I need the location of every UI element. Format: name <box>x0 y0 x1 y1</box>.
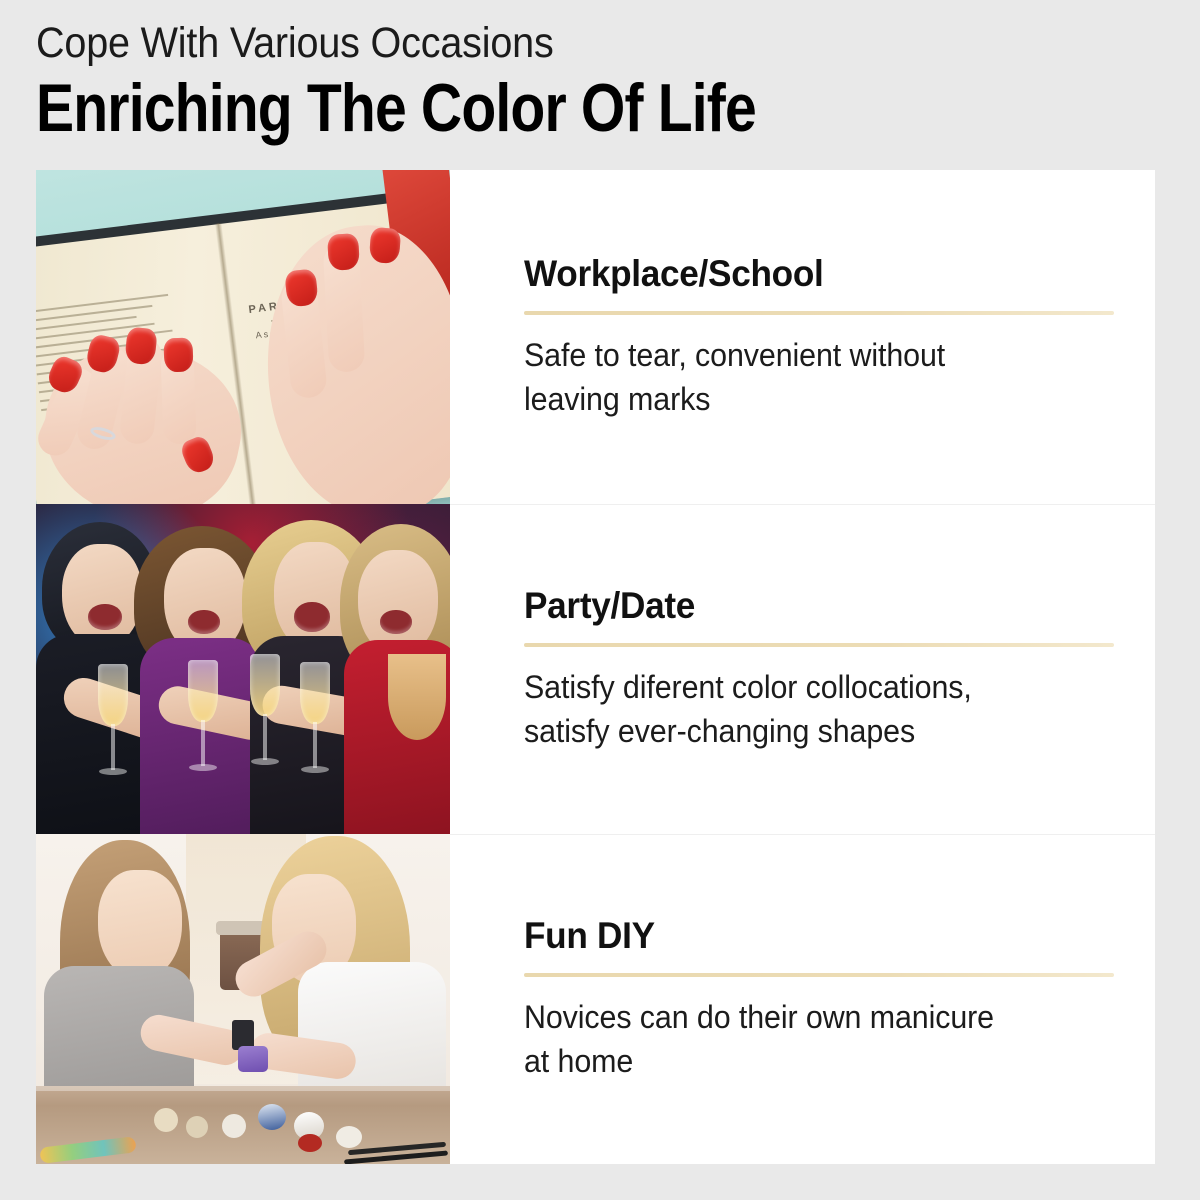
glass-stem <box>201 720 205 766</box>
polish-container <box>238 1046 268 1072</box>
photo-party-champagne <box>36 504 450 834</box>
feature-text-fun-diy: Fun DIY Novices can do their own manicur… <box>450 834 1170 1164</box>
feature-body: Safe to tear, convenient without leaving… <box>524 333 1085 421</box>
champagne-glass <box>98 664 128 726</box>
white-tank-top <box>298 962 446 1098</box>
open-mouth <box>88 604 122 630</box>
gold-divider <box>524 311 1114 315</box>
face <box>62 544 142 648</box>
feature-title: Party/Date <box>524 585 1085 627</box>
red-pot <box>298 1134 322 1152</box>
photo-diy-manicure <box>36 834 450 1164</box>
feature-title: Workplace/School <box>524 253 1085 295</box>
glass-foot <box>301 766 329 773</box>
champagne-glass <box>300 662 330 724</box>
open-mouth <box>380 610 412 634</box>
wooden-table <box>36 1086 450 1164</box>
photo-book-red-nails: PARTIE IIAssociation <box>36 170 450 504</box>
open-mouth <box>188 610 220 634</box>
feature-row-fun-diy: Fun DIY Novices can do their own manicur… <box>36 834 1155 1164</box>
feature-card: PARTIE IIAssociation Work <box>36 170 1155 1164</box>
header: Cope With Various Occasions Enriching Th… <box>36 18 1156 144</box>
feature-title: Fun DIY <box>524 915 1085 957</box>
feature-row-party-date: Party/Date Satisfy diferent color colloc… <box>36 504 1155 834</box>
supply-jar <box>186 1116 208 1138</box>
glass-stem <box>263 714 267 760</box>
blue-pot <box>258 1104 286 1130</box>
glass-foot <box>99 768 127 775</box>
red-nail <box>163 338 193 373</box>
red-nail <box>327 233 360 271</box>
open-mouth <box>294 602 330 632</box>
gold-divider <box>524 643 1114 647</box>
feature-text-party-date: Party/Date Satisfy diferent color colloc… <box>450 504 1170 834</box>
champagne-glass <box>250 654 280 716</box>
gold-divider <box>524 973 1114 977</box>
header-subtitle: Cope With Various Occasions <box>36 18 1066 68</box>
supply-jar <box>222 1114 246 1138</box>
feature-row-workplace-school: PARTIE IIAssociation Work <box>36 170 1155 504</box>
face <box>98 870 182 980</box>
feature-body: Novices can do their own manicure at hom… <box>524 995 1085 1083</box>
feature-text-workplace-school: Workplace/School Safe to tear, convenien… <box>450 170 1170 504</box>
feature-body: Satisfy diferent color collocations, sat… <box>524 665 1085 753</box>
white-pot <box>336 1126 362 1148</box>
glass-stem <box>313 722 317 768</box>
supply-jar <box>154 1108 178 1132</box>
header-title: Enriching The Color Of Life <box>36 72 977 144</box>
glass-stem <box>111 724 115 770</box>
glass-foot <box>251 758 279 765</box>
colored-brushes <box>39 1136 136 1164</box>
necklace <box>388 654 446 740</box>
glass-foot <box>189 764 217 771</box>
champagne-glass <box>188 660 218 722</box>
